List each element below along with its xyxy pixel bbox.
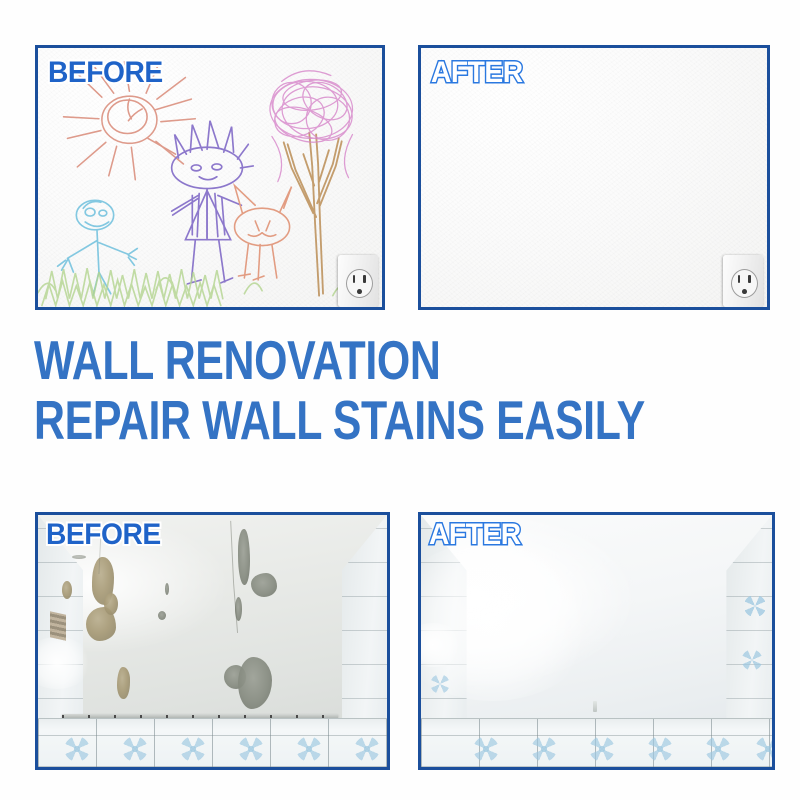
tiled-wall-strip [421,718,772,767]
label-before-top: BEFORE [48,58,163,88]
panel-top-right-after: AFTER [418,45,770,310]
ceiling-clean-scene [421,515,772,767]
label-after-top: AFTER [431,58,523,88]
tiled-wall-strip [38,718,387,767]
power-outlet-icon [338,255,378,307]
promo-banner: BEFORE AFTER WALL RENOVATION REPAIR WALL… [0,0,800,800]
ceiling-fitting [593,701,597,712]
power-outlet-icon [723,255,763,307]
label-after-bottom: AFTER [429,520,521,550]
ceiling-damaged-scene [38,515,387,767]
headline-line-1: WALL RENOVATION [34,330,611,390]
panel-bottom-left-image [38,515,387,767]
panel-bottom-right-after: AFTER [418,512,775,770]
panel-bottom-right-image [421,515,772,767]
panel-top-left-before: BEFORE [35,45,385,310]
headline-line-2: REPAIR WALL STAINS EASILY [34,390,611,450]
label-before-bottom: BEFORE [46,520,161,550]
panel-bottom-left-before: BEFORE [35,512,390,770]
wall-fitting [50,611,66,640]
headline-block: WALL RENOVATION REPAIR WALL STAINS EASIL… [34,330,774,450]
